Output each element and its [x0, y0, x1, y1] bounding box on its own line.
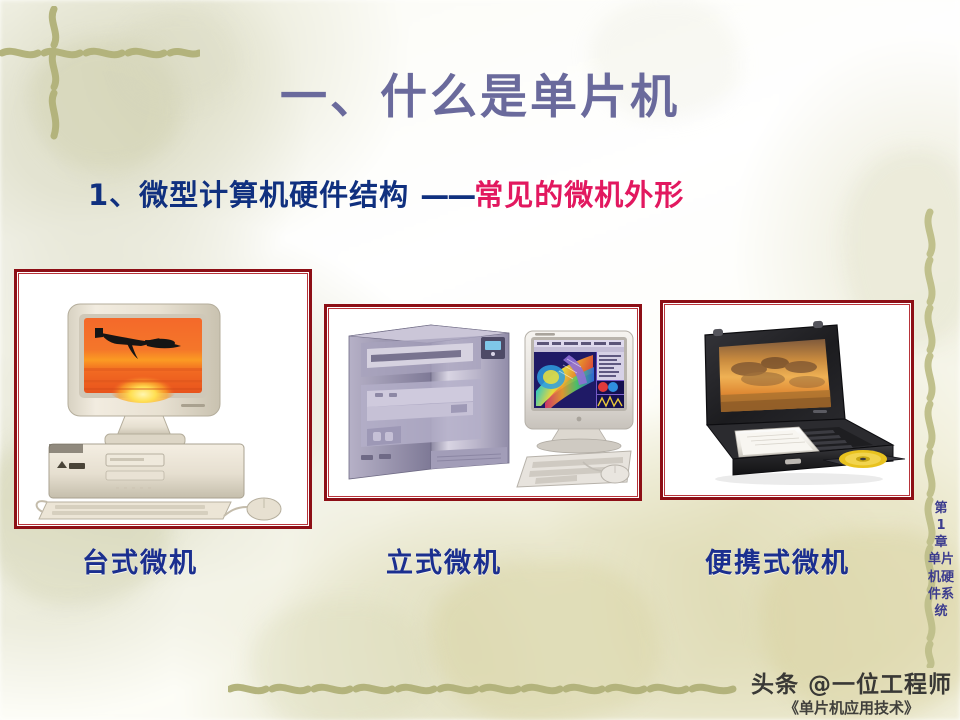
subtitle-blue-text: 1、微型计算机硬件结构	[88, 178, 409, 212]
desktop-computer-illustration	[21, 276, 305, 522]
chapter-side-label: 第 1 章 单片机硬件系统	[928, 500, 954, 620]
bamboo-horizontal-bottom-icon	[228, 676, 748, 700]
figure-image-tower	[331, 311, 635, 494]
figure-frame-tower	[324, 304, 642, 501]
page-title: 一、什么是单片机	[0, 58, 960, 127]
section-subtitle: 1、微型计算机硬件结构 ——常见的微机外形	[88, 172, 684, 214]
figure-frame-laptop	[660, 300, 914, 500]
figure-image-laptop	[667, 307, 907, 493]
watermark: 头条 @一位工程师 《单片机应用技术》	[751, 665, 952, 718]
laptop-computer-illustration	[667, 307, 907, 493]
figure-frame-desktop	[14, 269, 312, 529]
figure-caption-laptop: 便携式微机	[705, 541, 850, 580]
watermark-sub-text: 《单片机应用技术》	[751, 697, 952, 718]
watermark-main-text: 头条 @一位工程师	[751, 665, 952, 699]
slide-canvas: 一、什么是单片机 1、微型计算机硬件结构 ——常见的微机外形	[0, 0, 960, 720]
figure-caption-tower: 立式微机	[386, 541, 502, 580]
subtitle-dash: ——	[420, 178, 474, 212]
figure-image-desktop	[21, 276, 305, 522]
subtitle-red-text: 常见的微机外形	[474, 178, 684, 212]
tower-computer-illustration	[331, 311, 635, 494]
figure-caption-desktop: 台式微机	[82, 541, 198, 580]
